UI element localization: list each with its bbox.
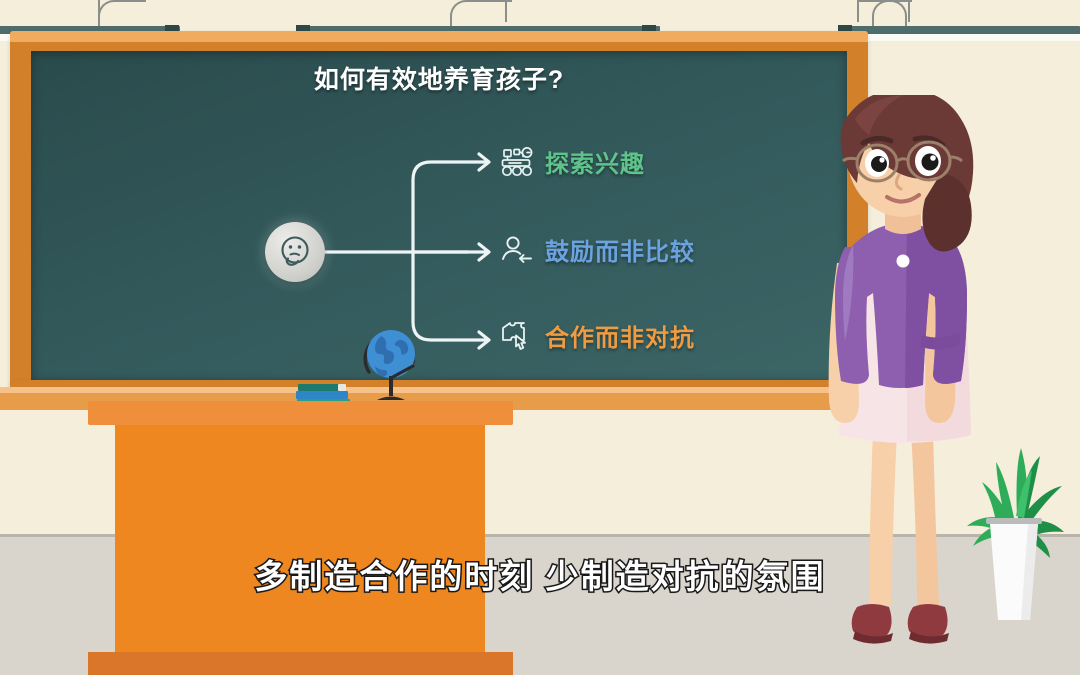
- puzzle-cursor-icon: [500, 319, 534, 353]
- thinking-face-icon: [276, 233, 314, 271]
- board-title: 如何有效地养育孩子?: [31, 60, 847, 96]
- book-middle: [296, 391, 348, 399]
- mindmap-item-1[interactable]: 鼓励而非比较: [500, 232, 695, 267]
- video-frame: 如何有效地养育孩子?: [0, 0, 1080, 675]
- mindmap-item-2[interactable]: 合作而非对抗: [500, 318, 695, 353]
- subtitle-text: 多制造合作的时刻 少制造对抗的氛围: [0, 550, 1080, 598]
- person-arrow-icon: [500, 233, 534, 267]
- book-top-pages: [338, 384, 346, 391]
- mindmap-center-node[interactable]: [265, 222, 325, 282]
- mindmap-item-1-label: 鼓励而非比较: [545, 232, 695, 267]
- teacher-desk-body: [115, 425, 485, 653]
- globe: [355, 318, 425, 404]
- blackboard-frame-top-edge: [10, 31, 868, 42]
- mars-rover-icon: [500, 145, 534, 179]
- blackboard-surface: [31, 51, 847, 380]
- mindmap-item-0[interactable]: 探索兴趣: [500, 144, 645, 179]
- mindmap-item-0-label: 探索兴趣: [545, 144, 645, 179]
- mindmap-item-2-label: 合作而非对抗: [545, 318, 695, 353]
- blackboard-chalk-ledge-highlight: [0, 387, 888, 393]
- teacher-desk-top: [88, 401, 513, 425]
- teacher-desk-base: [88, 652, 513, 675]
